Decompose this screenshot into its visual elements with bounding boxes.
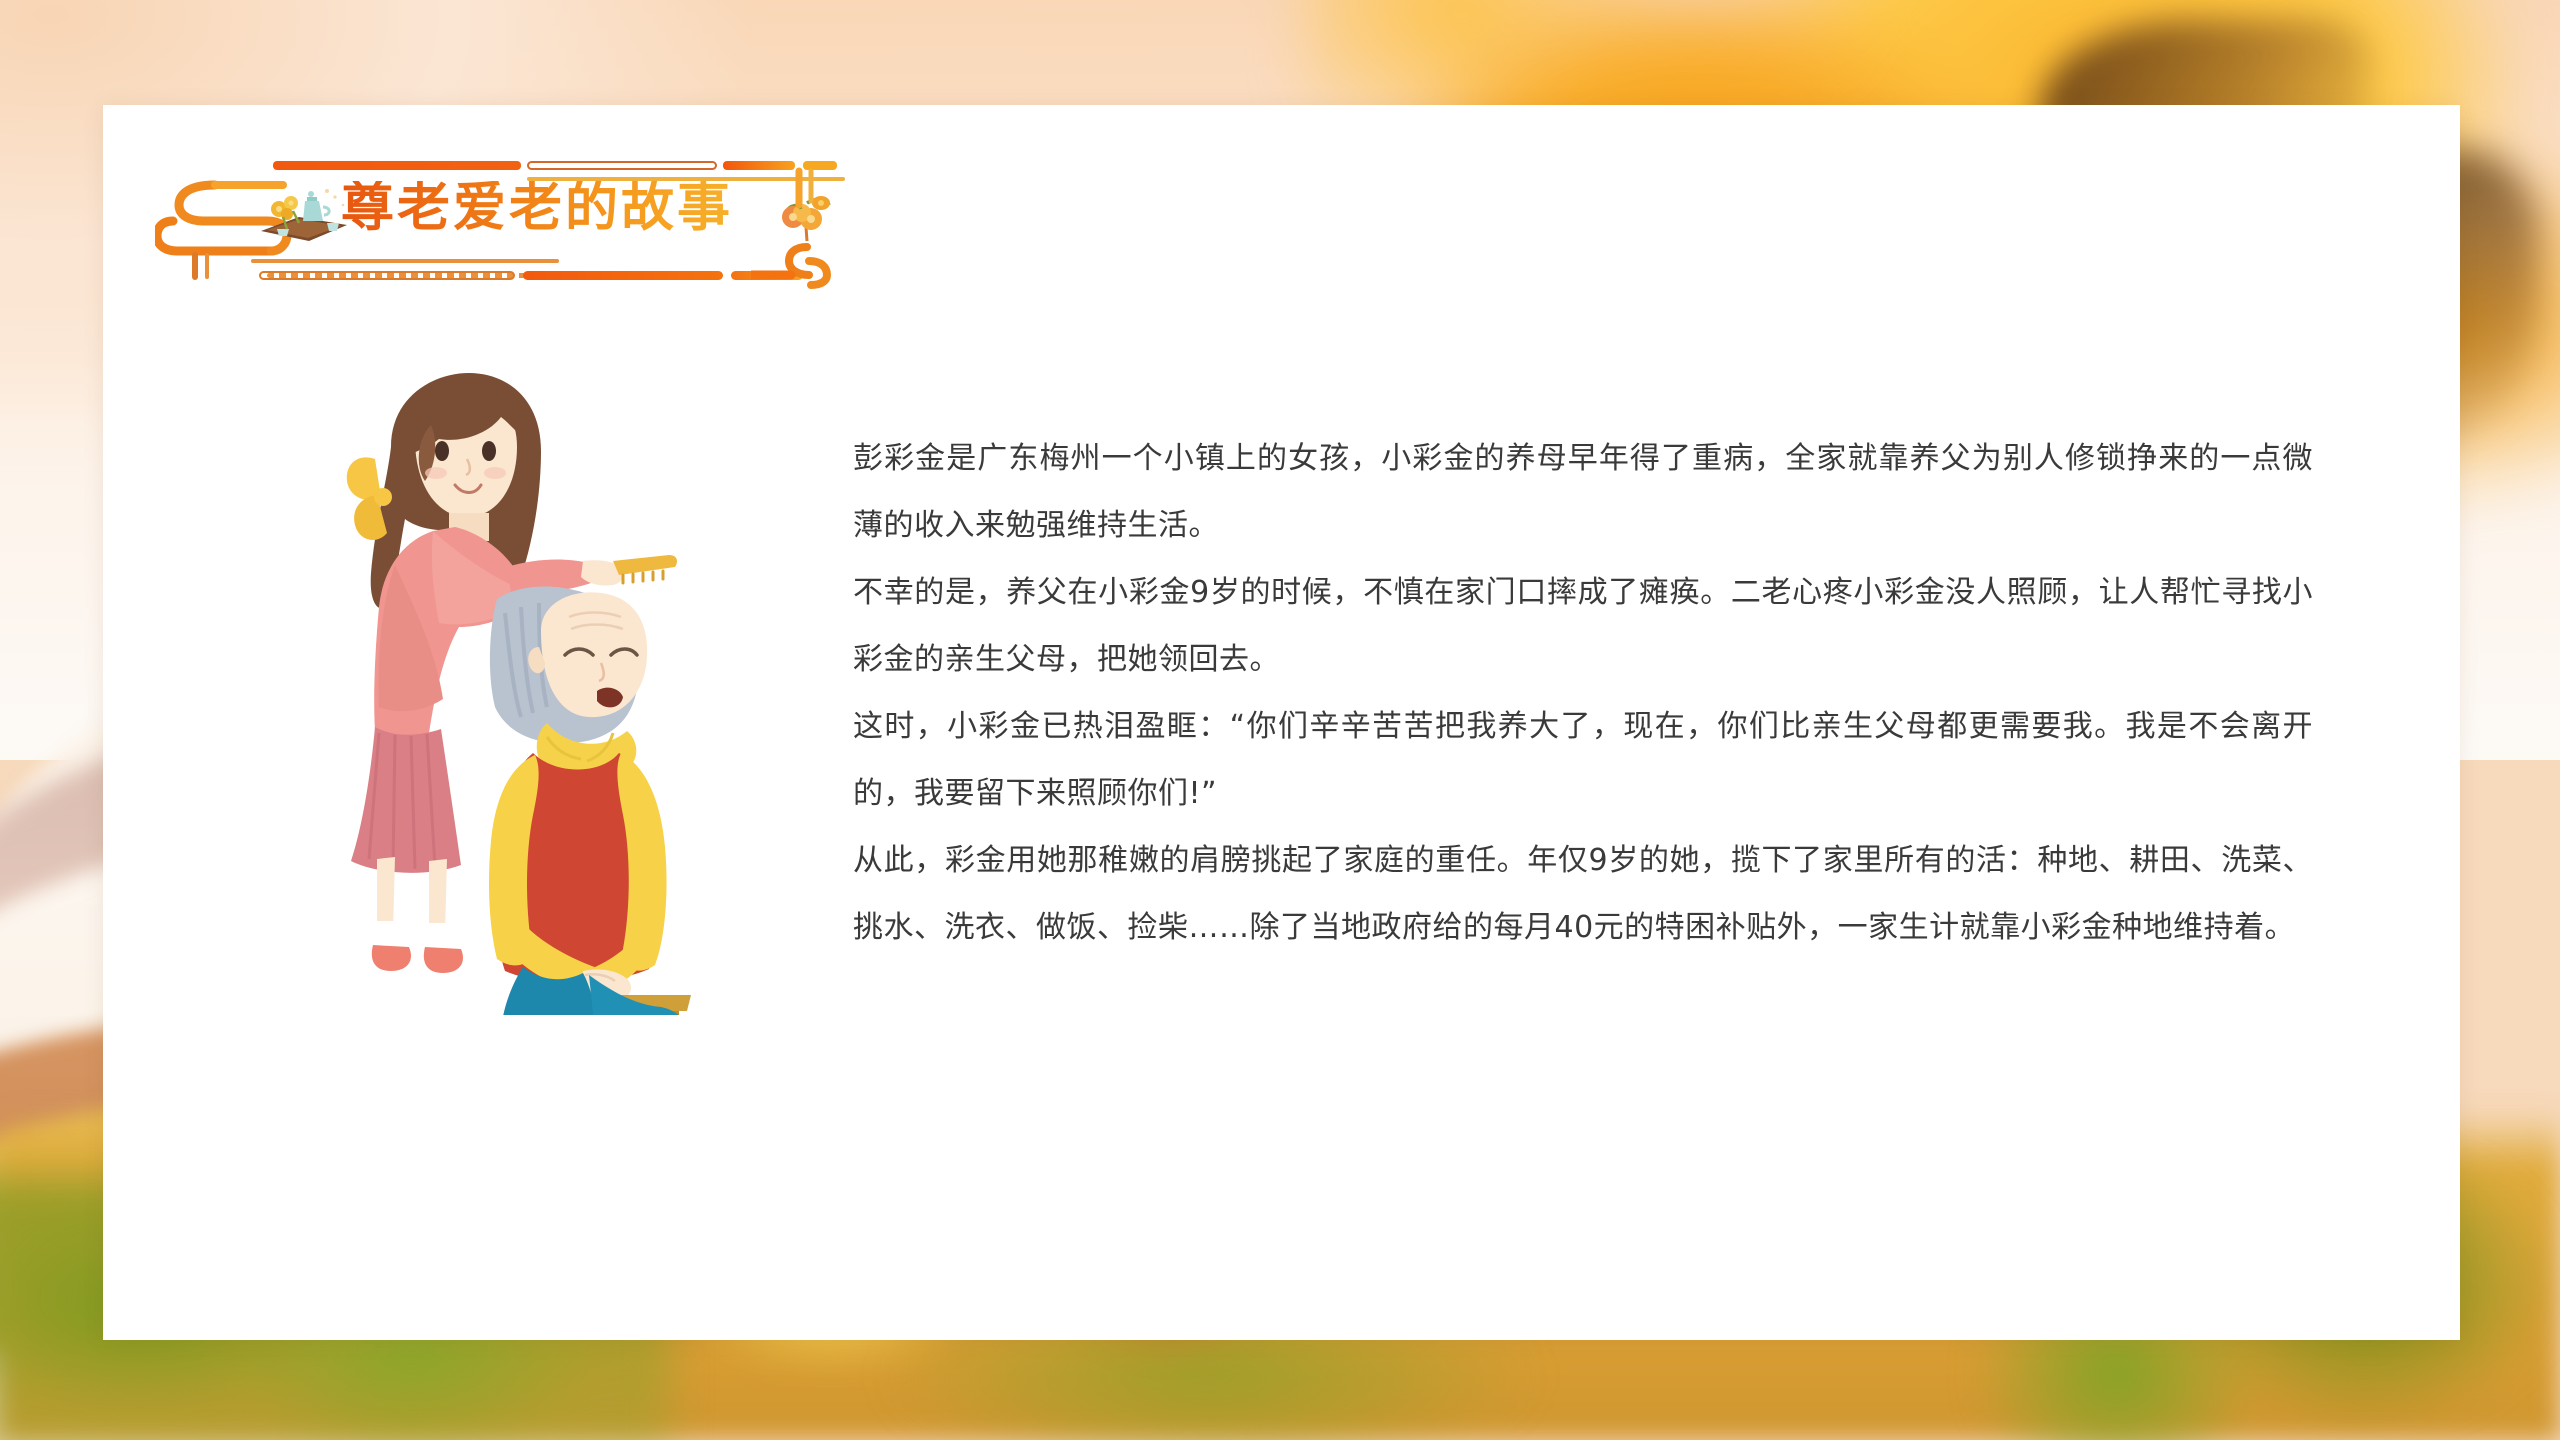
story-paragraph-2: 不幸的是，养父在小彩金9岁的时候，不慎在家门口摔成了瘫痪。二老心疼小彩金没人照顾… <box>853 559 2313 693</box>
tea-tray-ornament-icon <box>247 181 355 251</box>
title-rule-bottom-thick <box>523 271 723 280</box>
story-paragraph-1: 彭彩金是广东梅州一个小镇上的女孩，小彩金的养母早年得了重病，全家就靠养父为别人修… <box>853 425 2313 559</box>
slide-canvas: 尊老爱老的故事 <box>0 0 2560 1440</box>
story-text-block: 彭彩金是广东梅州一个小镇上的女孩，小彩金的养母早年得了重病，全家就靠养父为别人修… <box>853 425 2313 961</box>
page-title: 尊老爱老的故事 <box>341 181 733 234</box>
ruyi-cloud-scroll-right-icon <box>751 161 901 291</box>
story-paragraph-4: 从此，彩金用她那稚嫩的肩膀挑起了家庭的重任。年仅9岁的她，揽下了家里所有的活：种… <box>853 827 2313 961</box>
story-paragraph-3: 这时，小彩金已热泪盈眶：“你们辛辛苦苦把我养大了，现在，你们比亲生父母都更需要我… <box>853 693 2313 827</box>
title-rule-top-hollow <box>527 161 717 170</box>
title-banner: 尊老爱老的故事 <box>155 155 915 290</box>
content-card: 尊老爱老的故事 <box>103 105 2460 1340</box>
title-rule-top-thick <box>273 161 521 170</box>
illustration-girl-combing-elderly-woman <box>283 355 803 1015</box>
